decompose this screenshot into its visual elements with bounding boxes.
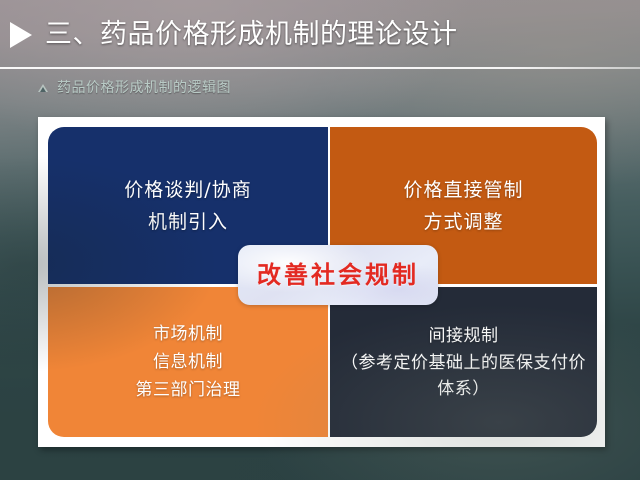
quadrant-bottom-left[interactable]: 市场机制 信息机制 第三部门治理 — [48, 287, 328, 437]
center-badge-label: 改善社会规制 — [257, 261, 419, 289]
diagram-frame: 价格谈判/协商 机制引入 价格直接管制 方式调整 市场机制 信息机制 第三部门治… — [38, 117, 605, 447]
slide-canvas: 三、药品价格形成机制的理论设计 药品价格形成机制的逻辑图 价格谈判/协商 机制引… — [0, 0, 640, 480]
triangle-outline-icon — [38, 84, 48, 92]
page-title: 三、药品价格形成机制的理论设计 — [45, 20, 458, 50]
quadrant-line: 价格直接管制 — [403, 174, 523, 206]
title-row: 三、药品价格形成机制的理论设计 — [10, 20, 458, 50]
quadrant-line: 价格谈判/协商 — [124, 174, 251, 206]
center-badge[interactable]: 改善社会规制 — [238, 245, 438, 305]
quadrant-line: 间接规制 — [429, 322, 499, 350]
slide-header: 三、药品价格形成机制的理论设计 — [0, 0, 640, 68]
quadrant-line: 机制引入 — [148, 206, 228, 238]
quadrant-line: （参考定价基础上的医保支付价体系） — [330, 350, 597, 402]
page-subtitle: 药品价格形成机制的逻辑图 — [57, 80, 231, 96]
header-divider — [0, 67, 640, 69]
quadrant-line: 信息机制 — [153, 348, 223, 376]
quadrant-line: 第三部门治理 — [136, 376, 241, 404]
triangle-right-icon — [10, 22, 32, 48]
quadrant-line: 市场机制 — [153, 320, 223, 348]
quadrant-line: 方式调整 — [423, 206, 503, 238]
diagram-grid: 价格谈判/协商 机制引入 价格直接管制 方式调整 市场机制 信息机制 第三部门治… — [48, 127, 597, 437]
subtitle-row: 药品价格形成机制的逻辑图 — [38, 80, 231, 96]
quadrant-bottom-right[interactable]: 间接规制 （参考定价基础上的医保支付价体系） — [330, 287, 597, 437]
